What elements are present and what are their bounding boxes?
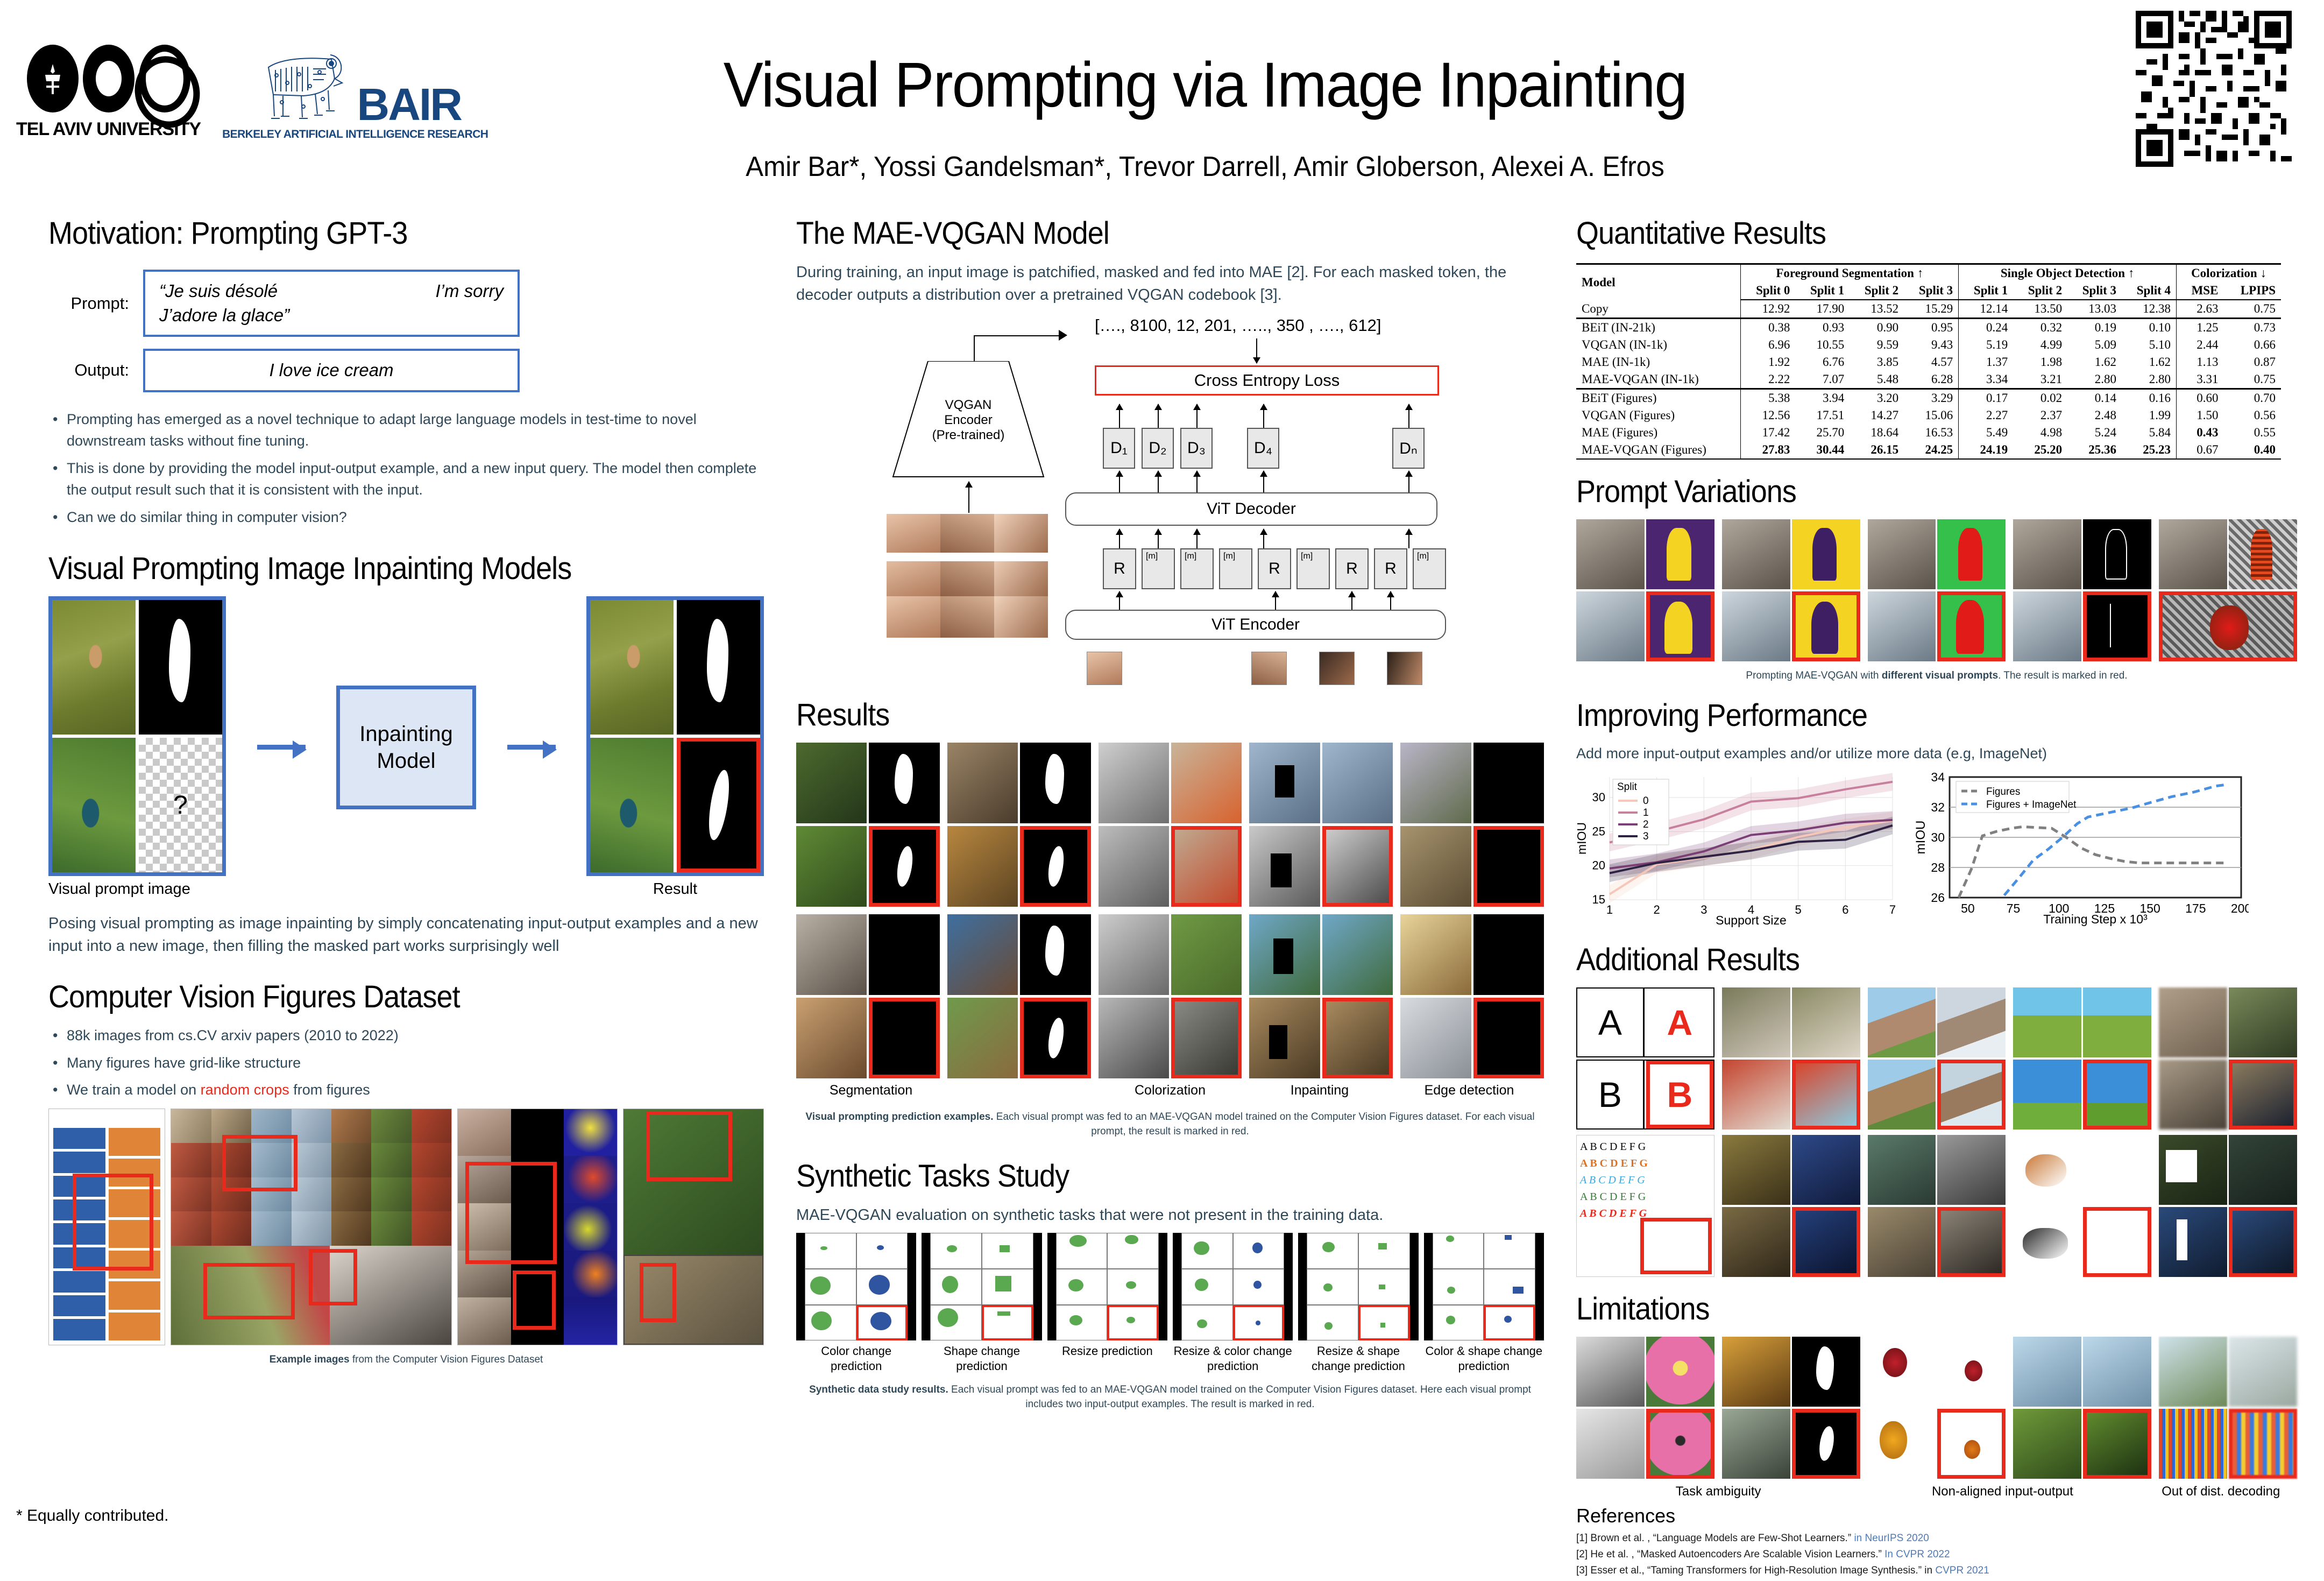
svg-text:Figures + ImageNet: Figures + ImageNet bbox=[1986, 799, 2077, 810]
table-cell-value: 0.70 bbox=[2223, 389, 2281, 407]
section-heading-model: The MAE-VQGAN Model bbox=[796, 215, 1492, 251]
synthetic-label-color-shape: Color & shape change prediction bbox=[1424, 1344, 1544, 1373]
table-row: BEiT (IN-21k)0.380.930.900.950.240.320.1… bbox=[1576, 319, 2281, 337]
svg-text:7: 7 bbox=[1889, 903, 1896, 916]
col-header-od-split1: Split 1 bbox=[1959, 282, 2014, 300]
vit-decoder-box: ViT Decoder bbox=[1065, 492, 1437, 526]
result-example bbox=[796, 914, 940, 1078]
prompt-masked-region: ? bbox=[139, 738, 222, 872]
result-image bbox=[586, 596, 764, 876]
synthetic-label-resize-shape: Resize & shape change prediction bbox=[1298, 1344, 1418, 1373]
synthetic-panel bbox=[1173, 1233, 1293, 1340]
table-cell-value: 2.80 bbox=[2067, 371, 2122, 389]
table-cell-value: 4.99 bbox=[2013, 336, 2067, 354]
svg-text:30: 30 bbox=[1931, 830, 1945, 844]
additional-building-example bbox=[1868, 987, 2006, 1130]
figure-example-edges bbox=[171, 1109, 452, 1345]
svg-text:5: 5 bbox=[1795, 903, 1802, 916]
synthetic-panel bbox=[1047, 1233, 1167, 1340]
figure-example-cactus bbox=[623, 1109, 764, 1345]
table-cell-value: 25.20 bbox=[2013, 441, 2067, 459]
model-box-line1: Inpainting bbox=[359, 721, 452, 747]
table-cell-value: 0.55 bbox=[2223, 424, 2281, 441]
table-cell-value: 0.32 bbox=[2013, 319, 2067, 337]
dataset-figure-caption: Example images from the Computer Vision … bbox=[48, 1353, 764, 1367]
task-label-blank bbox=[946, 1083, 1095, 1098]
limitation-label-non-aligned: Non-aligned input-output bbox=[1860, 1484, 2144, 1499]
table-row: VQGAN (Figures)12.5617.5114.2715.062.272… bbox=[1576, 407, 2281, 424]
col-header-fg-split2: Split 2 bbox=[1850, 282, 1904, 300]
poster-root: TEL AVIV UNIVERSITY bbox=[0, 0, 2324, 1550]
caption-b: . The result is marked in red. bbox=[1998, 670, 2127, 681]
table-cell-value: 3.21 bbox=[2013, 371, 2067, 389]
question-mark-label: ? bbox=[173, 790, 188, 820]
result-input-top bbox=[590, 600, 674, 735]
encoder-token-r-4: R bbox=[1374, 548, 1407, 589]
table-cell-value: 12.14 bbox=[1959, 300, 2014, 319]
table-cell-value: 5.48 bbox=[1850, 371, 1904, 389]
results-task-labels: Segmentation Colorization Inpainting Edg… bbox=[796, 1083, 1544, 1098]
table-cell-value: 3.85 bbox=[1850, 354, 1904, 371]
table-cell-value: 12.56 bbox=[1741, 407, 1796, 424]
table-cell-model: VQGAN (Figures) bbox=[1576, 407, 1741, 424]
svg-text:30: 30 bbox=[1592, 790, 1605, 804]
table-cell-value: 5.09 bbox=[2067, 336, 2122, 354]
caption-bold: different visual prompts bbox=[1882, 670, 1998, 681]
table-cell-model: Copy bbox=[1576, 300, 1741, 319]
svg-text:Support Size: Support Size bbox=[1716, 913, 1787, 927]
table-cell-value: 1.98 bbox=[2013, 354, 2067, 371]
svg-text:0: 0 bbox=[1643, 795, 1649, 807]
svg-text:32: 32 bbox=[1931, 800, 1945, 814]
table-cell-value: 13.50 bbox=[2013, 300, 2067, 319]
table-header-groups: Model Foreground Segmentation ↑ Single O… bbox=[1576, 264, 2281, 283]
table-cell-value: 12.38 bbox=[2122, 300, 2177, 319]
svg-text:75: 75 bbox=[2007, 901, 2021, 915]
additional-monalisa-example bbox=[1722, 1135, 1860, 1277]
col-header-fg-split3: Split 3 bbox=[1904, 282, 1959, 300]
dataset-example-figures bbox=[48, 1109, 764, 1345]
mask-token-4: [m] bbox=[1296, 548, 1330, 589]
additional-boat-example bbox=[1868, 1135, 2006, 1277]
table-cell-value: 6.96 bbox=[1741, 336, 1796, 354]
svg-text:20: 20 bbox=[1592, 858, 1605, 872]
synthetic-panel-labels: Color change prediction Shape change pre… bbox=[796, 1344, 1544, 1373]
table-body: Copy12.9217.9013.5215.2912.1413.5013.031… bbox=[1576, 300, 2281, 459]
table-cell-value: 1.25 bbox=[2177, 319, 2224, 337]
limitations-grid bbox=[1576, 1337, 2297, 1479]
list-item: 88k images from cs.CV arxiv papers (2010… bbox=[48, 1025, 764, 1047]
caption-rest: Each visual prompt was fed to an MAE-VQG… bbox=[948, 1384, 1531, 1410]
svg-text:15: 15 bbox=[1592, 893, 1605, 906]
quantitative-results-table: Model Foreground Segmentation ↑ Single O… bbox=[1576, 263, 2281, 460]
table-row: MAE (Figures)17.4225.7018.6416.535.494.9… bbox=[1576, 424, 2281, 441]
table-cell-value: 5.84 bbox=[2122, 424, 2177, 441]
table-head: Model Foreground Segmentation ↑ Single O… bbox=[1576, 264, 2281, 300]
additional-bird-example bbox=[1722, 987, 1860, 1130]
table-cell-model: BEiT (Figures) bbox=[1576, 389, 1741, 407]
prompt-variations-grid bbox=[1576, 519, 2297, 661]
result-example bbox=[1400, 914, 1544, 1078]
decoder-token-d1: D₁ bbox=[1103, 428, 1135, 469]
logo-group: TEL AVIV UNIVERSITY bbox=[16, 43, 488, 141]
list-item: Can we do similar thing in computer visi… bbox=[48, 506, 764, 528]
improving-description: Add more input-output examples and/or ut… bbox=[1576, 743, 2297, 764]
list-item: This is done by providing the model inpu… bbox=[48, 457, 764, 501]
table-cell-value: 2.37 bbox=[2013, 407, 2067, 424]
chart-support-size: 123456715202530mIOUSupport SizeSplit0123 bbox=[1576, 772, 1899, 928]
table-cell-value: 25.23 bbox=[2122, 441, 2177, 459]
limitation-apple-example bbox=[1868, 1337, 2006, 1479]
table-cell-value: 27.83 bbox=[1741, 441, 1796, 459]
section-heading-inpainting: Visual Prompting Image Inpainting Models bbox=[48, 550, 714, 587]
right-column: Quantitative Results Model Foreground Se… bbox=[1576, 215, 2297, 1581]
table-cell-value: 9.59 bbox=[1850, 336, 1904, 354]
caption-bold: Example images bbox=[270, 1354, 350, 1365]
table-cell-value: 16.53 bbox=[1904, 424, 1959, 441]
equal-contribution-footnote: * Equally contributed. bbox=[16, 1507, 169, 1525]
decoder-token-d2: D₂ bbox=[1142, 428, 1174, 469]
red-crop-box bbox=[640, 1263, 676, 1322]
prompt-variation-edges bbox=[2013, 519, 2151, 661]
table-cell-value: 2.48 bbox=[2067, 407, 2122, 424]
table-cell-value: 0.40 bbox=[2223, 441, 2281, 459]
tau-rings-icon bbox=[27, 45, 190, 112]
poster-header: TEL AVIV UNIVERSITY bbox=[0, 0, 2324, 215]
synthetic-label-color-change: Color change prediction bbox=[796, 1344, 916, 1373]
synthetic-label-shape-change: Shape change prediction bbox=[922, 1344, 1041, 1373]
additional-letters-example: A A B B bbox=[1576, 987, 1714, 1130]
codebook-token-sequence: […., 8100, 12, 201, ….., 350 , …., 612] bbox=[1095, 316, 1381, 335]
table-cell-value: 14.27 bbox=[1850, 407, 1904, 424]
decoder-token-d4: D₄ bbox=[1247, 428, 1279, 469]
reference-item-2: [2] He et al. , “Masked Autoencoders Are… bbox=[1576, 1549, 2297, 1561]
page-title: Visual Prompting via Image Inpainting bbox=[578, 48, 1832, 122]
table-cell-value: 6.76 bbox=[1795, 354, 1850, 371]
mae-vqgan-architecture-diagram: […., 8100, 12, 201, ….., 350 , …., 612] … bbox=[796, 312, 1544, 656]
table-cell-value: 4.57 bbox=[1904, 354, 1959, 371]
col-header-od-split3: Split 3 bbox=[2067, 282, 2122, 300]
figure-example-network-diagram bbox=[48, 1109, 165, 1345]
training-image-faces bbox=[887, 514, 1048, 638]
result-example bbox=[1099, 743, 1242, 907]
cross-entropy-loss-box: Cross Entropy Loss bbox=[1095, 365, 1439, 396]
limitation-label-ood: Out of dist. decoding bbox=[2145, 1484, 2297, 1499]
results-caption: Visual prompting prediction examples. Ea… bbox=[796, 1110, 1544, 1139]
table-row: VQGAN (IN-1k)6.9610.559.599.435.194.995.… bbox=[1576, 336, 2281, 354]
table-cell-value: 0.10 bbox=[2122, 319, 2177, 337]
task-label-segmentation: Segmentation bbox=[796, 1083, 946, 1098]
prompt-mask-top bbox=[139, 600, 222, 735]
col-group-colorization: Colorization ↓ bbox=[2177, 264, 2281, 283]
svg-text:50: 50 bbox=[1961, 901, 1975, 915]
synthetic-caption: Synthetic data study results. Each visua… bbox=[796, 1383, 1544, 1411]
mask-token-2: [m] bbox=[1180, 548, 1214, 589]
vit-encoder-box: ViT Encoder bbox=[1065, 610, 1446, 640]
section-heading-prompt-variations: Prompt Variations bbox=[1576, 474, 2247, 510]
input-patch bbox=[1319, 652, 1355, 685]
mask-token-1: [m] bbox=[1142, 548, 1175, 589]
table-cell-value: 2.22 bbox=[1741, 371, 1796, 389]
qr-code-icon[interactable] bbox=[2136, 11, 2292, 167]
table-cell-value: 1.37 bbox=[1959, 354, 2014, 371]
table-cell-value: 25.36 bbox=[2067, 441, 2122, 459]
synthetic-panel bbox=[1298, 1233, 1418, 1340]
visual-prompt-image: ? bbox=[48, 596, 226, 876]
synthetic-label-resize: Resize prediction bbox=[1047, 1344, 1167, 1373]
svg-text:6: 6 bbox=[1842, 903, 1848, 916]
alphabet-row-orange: A B C D E F G bbox=[1580, 1155, 1711, 1172]
table-cell-value: 0.87 bbox=[2223, 354, 2281, 371]
dataset-bullet-list: 88k images from cs.CV arxiv papers (2010… bbox=[48, 1025, 764, 1101]
limitations-labels: Task ambiguity Non-aligned input-output … bbox=[1576, 1484, 2297, 1499]
vqgan-encoder-label: VQGANEncoder(Pre-trained) bbox=[904, 398, 1033, 443]
bullet-text-highlight: random crops bbox=[201, 1082, 289, 1098]
result-image-label: Result bbox=[586, 880, 764, 898]
table-row: BEiT (Figures)5.383.943.203.290.170.020.… bbox=[1576, 389, 2281, 407]
svg-text:mIOU: mIOU bbox=[1915, 820, 1928, 854]
synthetic-label-resize-color: Resize & color change prediction bbox=[1173, 1344, 1293, 1373]
table-cell-value: 1.92 bbox=[1741, 354, 1796, 371]
table-cell-value: 2.80 bbox=[2122, 371, 2177, 389]
caption-rest: Each visual prompt was fed to an MAE-VQG… bbox=[994, 1111, 1535, 1137]
table-cell-value: 15.06 bbox=[1904, 407, 1959, 424]
input-patch bbox=[1387, 652, 1422, 685]
caption-bold: Visual prompting prediction examples. bbox=[805, 1111, 993, 1123]
encoder-token-r-2: R bbox=[1258, 548, 1291, 589]
table-cell-value: 17.42 bbox=[1741, 424, 1796, 441]
red-crop-box bbox=[222, 1135, 297, 1191]
caption-bold: Synthetic data study results. bbox=[809, 1384, 948, 1395]
table-row: MAE-VQGAN (IN-1k)2.227.075.486.283.343.2… bbox=[1576, 371, 2281, 389]
caption-a: Prompting MAE-VQGAN with bbox=[1746, 670, 1881, 681]
synthetic-panel bbox=[1424, 1233, 1544, 1340]
svg-text:mIOU: mIOU bbox=[1576, 822, 1589, 855]
middle-column: The MAE-VQGAN Model During training, an … bbox=[796, 215, 1544, 1412]
additional-results-row-2: A B C D E F G A B C D E F G A B C D E F … bbox=[1576, 1135, 2297, 1277]
result-example bbox=[796, 743, 940, 907]
references-heading: References bbox=[1576, 1505, 2297, 1527]
table-cell-value: 1.62 bbox=[2122, 354, 2177, 371]
table-row: MAE-VQGAN (Figures)27.8330.4426.1524.252… bbox=[1576, 441, 2281, 459]
list-item: Many figures have grid-like structure bbox=[48, 1052, 764, 1074]
tau-seal-icon bbox=[43, 63, 62, 96]
table-cell-value: 0.19 bbox=[2067, 319, 2122, 337]
output-row: Output: I love ice cream bbox=[48, 349, 764, 392]
svg-text:3: 3 bbox=[1701, 903, 1707, 916]
decoder-token-dn: Dₙ bbox=[1392, 428, 1425, 469]
table-cell-value: 5.49 bbox=[1959, 424, 2014, 441]
section-heading-synthetic: Synthetic Tasks Study bbox=[796, 1158, 1492, 1194]
input-patch bbox=[1087, 652, 1122, 685]
table-cell-value: 0.75 bbox=[2223, 371, 2281, 389]
bair-row: BAIR bbox=[250, 43, 461, 124]
inpainting-caption: Posing visual prompting as image inpaint… bbox=[48, 912, 764, 957]
table-cell-value: 3.29 bbox=[1904, 389, 1959, 407]
bullet-text-b: from figures bbox=[289, 1082, 370, 1098]
alphabet-row-black: A B C D E F G bbox=[1580, 1139, 1711, 1155]
result-prediction bbox=[677, 738, 760, 872]
red-crop-box bbox=[309, 1249, 357, 1305]
letter-b-red: B bbox=[1646, 1061, 1713, 1128]
table-cell-value: 1.13 bbox=[2177, 354, 2224, 371]
table-cell-value: 4.98 bbox=[2013, 424, 2067, 441]
arrow-up-icon bbox=[968, 482, 969, 513]
prompt-input-bottom bbox=[52, 738, 136, 872]
prompt-box: “Je suis désolé I’m sorry J’adore la gla… bbox=[143, 270, 520, 337]
table-cell-value: 0.02 bbox=[2013, 389, 2067, 407]
prompt-text-english-1: I’m sorry bbox=[436, 279, 504, 304]
table-cell-model: VQGAN (IN-1k) bbox=[1576, 336, 1741, 354]
letter-a-red: A bbox=[1646, 989, 1713, 1056]
synthetic-description: MAE-VQGAN evaluation on synthetic tasks … bbox=[796, 1204, 1544, 1226]
table-cell-value: 2.27 bbox=[1959, 407, 2014, 424]
table-cell-value: 3.34 bbox=[1959, 371, 2014, 389]
table-cell-value: 0.73 bbox=[2223, 319, 2281, 337]
limitation-bottle-example bbox=[1722, 1337, 1860, 1479]
mask-token-3: [m] bbox=[1219, 548, 1252, 589]
inpainting-model-box: Inpainting Model bbox=[336, 686, 476, 809]
section-heading-motivation: Motivation: Prompting GPT-3 bbox=[48, 215, 714, 251]
table-cell-value: 0.60 bbox=[2177, 389, 2224, 407]
table-cell-value: 0.16 bbox=[2122, 389, 2177, 407]
result-example bbox=[1249, 743, 1393, 907]
prompt-variations-caption: Prompting MAE-VQGAN with different visua… bbox=[1576, 669, 2297, 683]
table-cell-value: 3.94 bbox=[1795, 389, 1850, 407]
svg-text:Split: Split bbox=[1617, 781, 1638, 793]
col-header-fg-split0: Split 0 bbox=[1741, 282, 1796, 300]
results-grid bbox=[796, 743, 1544, 1078]
table-cell-value: 24.19 bbox=[1959, 441, 2014, 459]
encoder-input-patches bbox=[796, 652, 1544, 685]
visual-prompt-image-label: Visual prompt image bbox=[48, 880, 226, 898]
references-section: References [1] Brown et al. , “Language … bbox=[1576, 1505, 2297, 1577]
table-cell-value: 24.25 bbox=[1904, 441, 1959, 459]
table-cell-value: 12.92 bbox=[1741, 300, 1796, 319]
prompt-text-french-2: J’adore la glace” bbox=[159, 304, 504, 328]
table-cell-value: 17.51 bbox=[1795, 407, 1850, 424]
table-cell-value: 0.75 bbox=[2223, 300, 2281, 319]
svg-text:Figures: Figures bbox=[1986, 786, 2020, 797]
table-cell-model: MAE (Figures) bbox=[1576, 424, 1741, 441]
svg-text:1: 1 bbox=[1643, 807, 1649, 818]
table-cell-value: 0.43 bbox=[2177, 424, 2224, 441]
col-header-lpips: LPIPS bbox=[2223, 282, 2281, 300]
col-header-od-split4: Split 4 bbox=[2122, 282, 2177, 300]
synthetic-tasks-grid bbox=[796, 1233, 1544, 1340]
section-heading-results: Results bbox=[796, 697, 1492, 733]
table-cell-value: 7.07 bbox=[1795, 371, 1850, 389]
arrow-head-icon bbox=[1059, 330, 1067, 341]
table-cell-value: 0.93 bbox=[1795, 319, 1850, 337]
table-cell-value: 0.17 bbox=[1959, 389, 2014, 407]
svg-text:28: 28 bbox=[1931, 860, 1945, 874]
list-item-random-crops: We train a model on random crops from fi… bbox=[48, 1079, 764, 1101]
input-patch bbox=[1251, 652, 1287, 685]
additional-blur-example bbox=[2159, 987, 2297, 1130]
red-crop-box bbox=[465, 1162, 557, 1264]
result-example bbox=[947, 914, 1091, 1078]
table-cell-value: 10.55 bbox=[1795, 336, 1850, 354]
svg-text:2: 2 bbox=[1654, 903, 1660, 916]
tau-ring-donut-icon bbox=[83, 45, 134, 112]
section-heading-limitations: Limitations bbox=[1576, 1291, 2247, 1327]
red-crop-box bbox=[203, 1263, 295, 1319]
svg-text:Training Step x 10³: Training Step x 10³ bbox=[2043, 912, 2148, 926]
letter-a-black: A bbox=[1577, 989, 1645, 1056]
result-input-bottom bbox=[590, 738, 674, 872]
prompt-input-top bbox=[52, 600, 136, 735]
section-heading-quantitative: Quantitative Results bbox=[1576, 215, 2247, 251]
result-example bbox=[1400, 743, 1544, 907]
result-example bbox=[947, 743, 1091, 907]
table-row: MAE (IN-1k)1.926.763.854.571.371.981.621… bbox=[1576, 354, 2281, 371]
bullet-text-a: We train a model on bbox=[67, 1082, 201, 1098]
table-cell-model: BEiT (IN-21k) bbox=[1576, 319, 1741, 337]
table-cell-value: 18.64 bbox=[1850, 424, 1904, 441]
svg-text:26: 26 bbox=[1931, 891, 1945, 905]
model-box-line2: Model bbox=[359, 747, 452, 774]
bair-logo: BAIR BERKELEY ARTIFICIAL INTELLIGENCE RE… bbox=[222, 43, 488, 141]
prompt-variation-purple-yellow bbox=[1576, 519, 1714, 661]
table-cell-value: 5.38 bbox=[1741, 389, 1796, 407]
col-header-od-split2: Split 2 bbox=[2013, 282, 2067, 300]
prompt-text-french-1: “Je suis désolé bbox=[159, 279, 278, 304]
limitation-bird-example bbox=[2013, 1337, 2151, 1479]
motivation-bullet-list: Prompting has emerged as a novel techniq… bbox=[48, 408, 764, 528]
table-cell-value: 0.38 bbox=[1741, 319, 1796, 337]
section-heading-dataset: Computer Vision Figures Dataset bbox=[48, 979, 714, 1015]
table-cell-value: 2.44 bbox=[2177, 336, 2224, 354]
svg-text:25: 25 bbox=[1592, 824, 1605, 838]
table-cell-model: MAE (IN-1k) bbox=[1576, 354, 1741, 371]
table-cell-value: 1.99 bbox=[2122, 407, 2177, 424]
red-crop-box bbox=[73, 1174, 153, 1271]
table-cell-value: 3.31 bbox=[2177, 371, 2224, 389]
table-cell-value: 0.67 bbox=[2177, 441, 2224, 459]
table-cell-value: 0.66 bbox=[2223, 336, 2281, 354]
svg-text:1: 1 bbox=[1606, 903, 1613, 916]
synthetic-panel bbox=[922, 1233, 1041, 1340]
col-group-single-object-detection: Single Object Detection ↑ bbox=[1959, 264, 2177, 283]
synthetic-panel bbox=[796, 1233, 916, 1340]
limitation-ood-example bbox=[2159, 1337, 2297, 1479]
svg-text:2: 2 bbox=[1643, 819, 1649, 830]
svg-text:3: 3 bbox=[1643, 831, 1649, 842]
decoder-token-d3: D₃ bbox=[1180, 428, 1213, 469]
bair-wordmark: BAIR bbox=[357, 86, 461, 124]
red-result-box bbox=[1640, 1218, 1711, 1274]
author-list: Amir Bar*, Yossi Gandelsman*, Trevor Dar… bbox=[571, 151, 1839, 183]
table-row: Copy12.9217.9013.5215.2912.1413.5013.031… bbox=[1576, 300, 2281, 319]
table-cell-model: MAE-VQGAN (Figures) bbox=[1576, 441, 1741, 459]
result-example bbox=[1099, 914, 1242, 1078]
table-cell-value: 1.62 bbox=[2067, 354, 2122, 371]
result-example bbox=[1249, 914, 1393, 1078]
table-cell-value: 17.90 bbox=[1795, 300, 1850, 319]
table-cell-value: 6.28 bbox=[1904, 371, 1959, 389]
reference-item-3: [3] Esser et al., “Taming Transformers f… bbox=[1576, 1565, 2297, 1577]
table-cell-value: 0.24 bbox=[1959, 319, 2014, 337]
task-label-edge-detection: Edge detection bbox=[1394, 1083, 1544, 1098]
task-label-colorization: Colorization bbox=[1095, 1083, 1245, 1098]
svg-text:175: 175 bbox=[2185, 901, 2206, 915]
table-cell-value: 25.70 bbox=[1795, 424, 1850, 441]
prompt-variation-texture bbox=[2159, 519, 2297, 661]
prompt-variation-green-red bbox=[1868, 519, 2006, 661]
table-cell-value: 0.90 bbox=[1850, 319, 1904, 337]
svg-text:34: 34 bbox=[1931, 772, 1945, 784]
